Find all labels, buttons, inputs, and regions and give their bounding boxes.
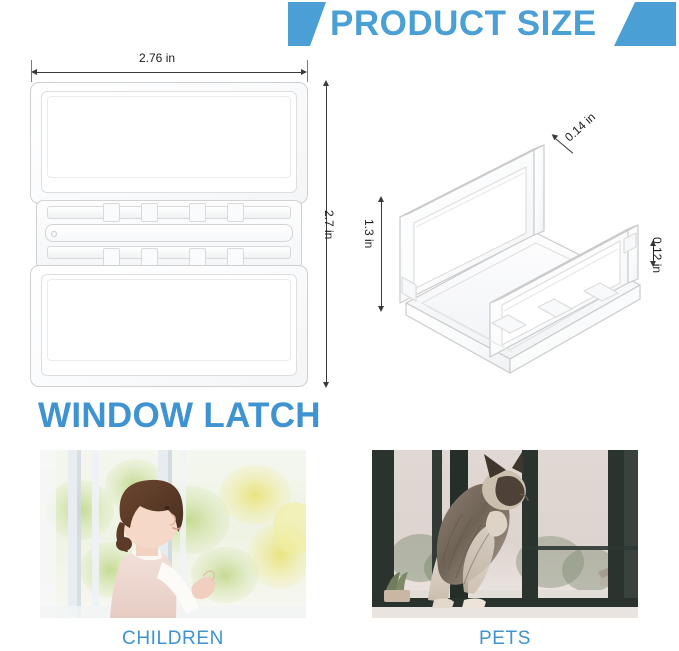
width-dimension-label: 2.76 in bbox=[139, 51, 175, 65]
window-latch-front-image bbox=[30, 82, 308, 387]
depth-dimension-label: 1.3 in bbox=[362, 219, 376, 248]
product-size-diagram: 2.76 in 2.7 in bbox=[0, 52, 679, 382]
latch-hinge-mechanism bbox=[36, 200, 302, 270]
caption-pets: PETS bbox=[372, 628, 638, 650]
photo-children bbox=[40, 450, 306, 618]
latch-bottom-panel bbox=[30, 265, 308, 387]
section-title-window-latch: WINDOW LATCH bbox=[38, 396, 321, 436]
photo-pets bbox=[372, 450, 638, 618]
product-size-header: PRODUCT SIZE bbox=[0, 0, 679, 52]
window-latch-iso-image bbox=[392, 107, 654, 377]
latch-top-panel bbox=[30, 82, 308, 204]
banner-accent-left-icon bbox=[288, 2, 326, 46]
caption-children: CHILDREN bbox=[40, 628, 306, 650]
page-title: PRODUCT SIZE bbox=[330, 2, 597, 46]
height-dimension-label: 2.7 in bbox=[322, 210, 336, 239]
banner-accent-right-icon bbox=[614, 2, 676, 46]
